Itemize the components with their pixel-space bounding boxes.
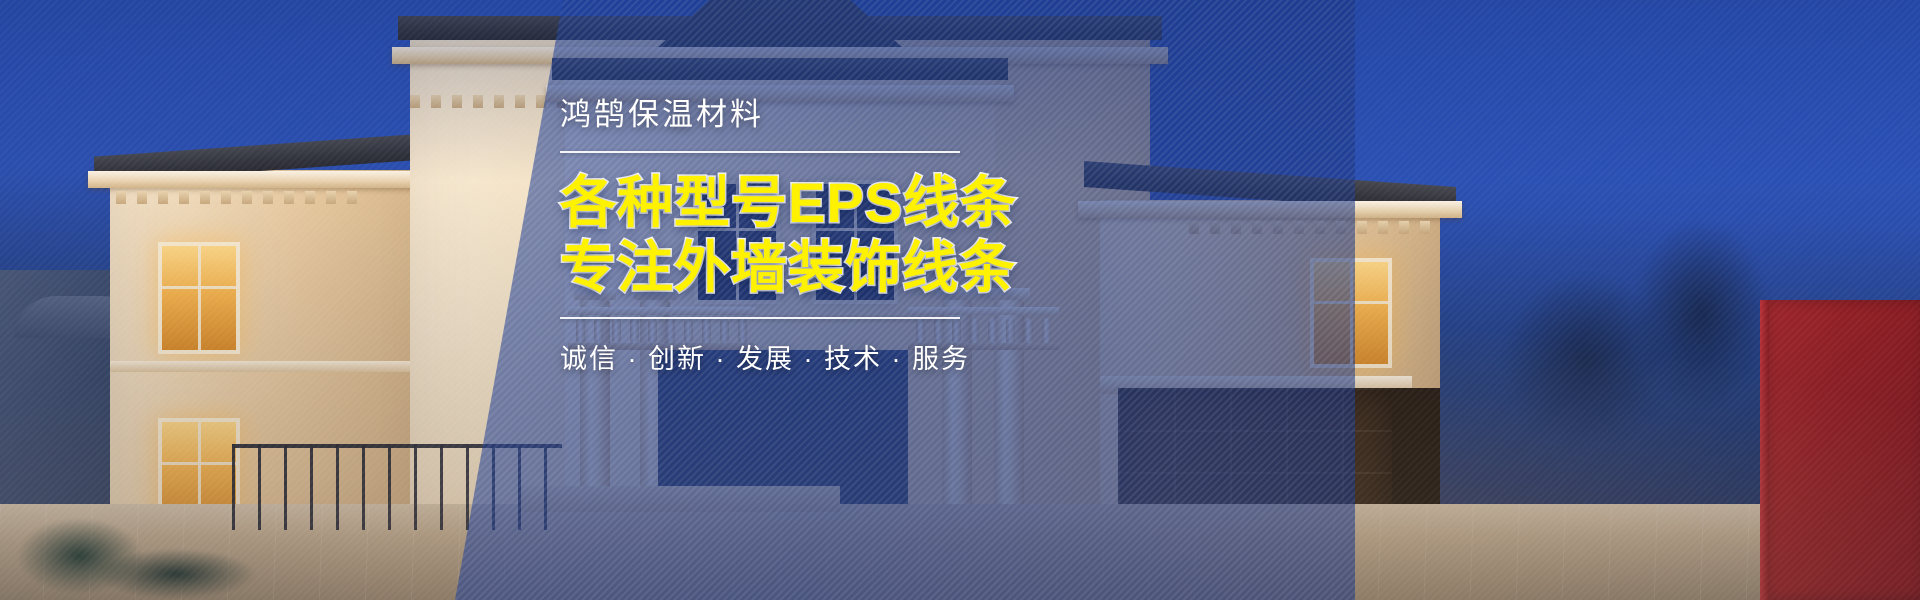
dentils-right [1189, 221, 1430, 234]
divider-bottom [560, 317, 960, 319]
entry-steps [520, 486, 840, 512]
brand-name: 鸿鹄保温材料 [560, 96, 1040, 135]
band-left [110, 361, 440, 372]
cornice-left [88, 171, 462, 188]
window-left-upper [162, 246, 236, 350]
cornice-right [1078, 201, 1462, 218]
divider-top [560, 151, 960, 153]
banner-tagline: 诚信 · 创新 · 发展 · 技术 · 服务 [560, 337, 1040, 376]
headline-line-1: 各种型号EPS线条 [560, 173, 1040, 232]
tree-right [1470, 180, 1800, 480]
hero-banner: 鸿鹄保温材料 各种型号EPS线条 专注外墙装饰线条 诚信 · 创新 · 发展 ·… [0, 0, 1920, 600]
red-wall-right [1760, 300, 1920, 600]
dentils-left [116, 191, 357, 204]
headline-line-2: 专注外墙装饰线条 [560, 238, 1040, 297]
roof-bay [552, 58, 1008, 80]
shrub-left [0, 430, 290, 600]
window-right-upper [1314, 262, 1388, 364]
banner-copy-block: 鸿鹄保温材料 各种型号EPS线条 专注外墙装饰线条 诚信 · 创新 · 发展 ·… [560, 96, 1040, 376]
